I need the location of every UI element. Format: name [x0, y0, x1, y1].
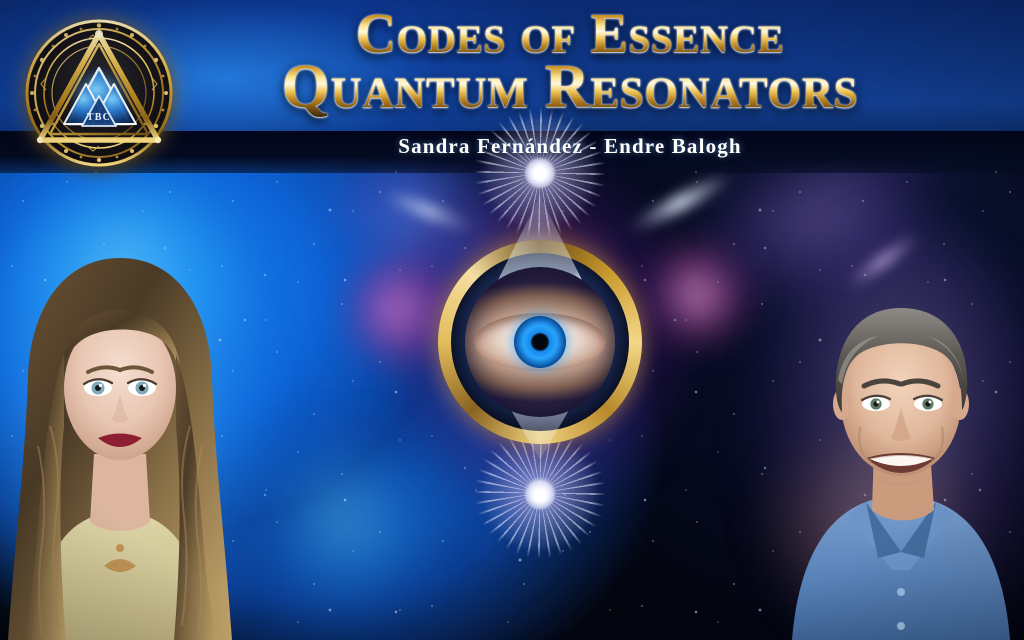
third-eye-mandala: [390, 150, 690, 520]
eye-pupil: [533, 335, 548, 350]
spark-top: [525, 158, 555, 188]
portrait-sandra-fernandez: [0, 236, 246, 640]
logo-inner-text: TBC: [87, 112, 111, 123]
portrait-endre-balogh: [778, 252, 1024, 640]
title-line-2: Quantum Resonators: [190, 58, 950, 118]
presenters-subtitle: Sandra Fernández - Endre Balogh: [190, 134, 950, 159]
eye-disc: [465, 267, 615, 417]
logo-medallion[interactable]: TBC: [24, 18, 174, 168]
title-block: Codes of Essence Quantum Resonators: [190, 8, 950, 117]
poster-banner: TBC: [0, 0, 1024, 640]
spark-bottom: [525, 480, 555, 510]
